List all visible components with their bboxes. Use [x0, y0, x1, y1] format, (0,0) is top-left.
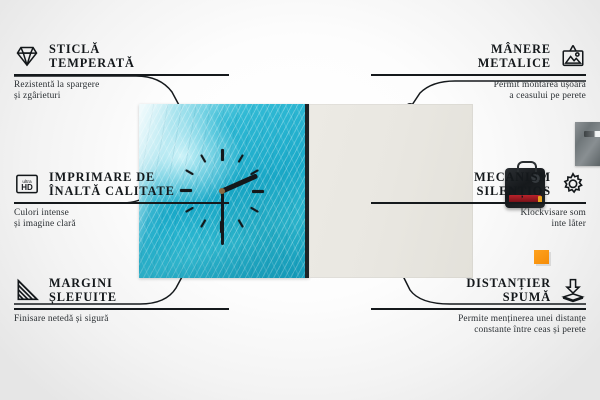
feature-header: DISTANȚIER SPUMĂ — [371, 276, 586, 304]
feature-title: MÂNERE METALICE — [478, 42, 551, 70]
feature-subtitle: Culori intense și imagine clară — [14, 208, 229, 232]
infographic-stage: STICLĂ TEMPERATĂ Rezistentă la spargere … — [0, 0, 600, 400]
feature-header: STICLĂ TEMPERATĂ — [14, 42, 229, 70]
feature-subtitle: Rezistentă la spargere și zgârieturi — [14, 80, 229, 104]
feature-title: DISTANȚIER SPUMĂ — [466, 276, 551, 304]
feature-foam-spacer: DISTANȚIER SPUMĂ Permite menținerea unei… — [371, 276, 586, 337]
feature-title: IMPRIMARE DE ÎNALTĂ CALITATE — [49, 170, 175, 198]
feature-silent-mechanism: MECANISM SILENȚIOS Klockvisare som inte … — [371, 170, 586, 231]
diamond-icon — [14, 43, 40, 69]
feature-metal-hangers: MÂNERE METALICE Permit montarea ușoară a… — [371, 42, 586, 103]
feature-subtitle: Klockvisare som inte låter — [371, 208, 586, 232]
feature-divider — [14, 202, 229, 204]
feature-divider — [14, 308, 229, 310]
foam-spacer-pad — [534, 250, 549, 264]
feature-divider — [371, 202, 586, 204]
feature-title: STICLĂ TEMPERATĂ — [49, 42, 135, 70]
metal-hanger-plate — [575, 122, 600, 166]
feature-header: MECANISM SILENȚIOS — [371, 170, 586, 198]
feature-header: ultra HD IMPRIMARE DE ÎNALTĂ CALITATE — [14, 170, 229, 198]
ultra-hd-icon: ultra HD — [14, 171, 40, 197]
gear-icon — [560, 171, 586, 197]
feature-subtitle: Permit montarea ușoară a ceasului pe per… — [371, 80, 586, 104]
feature-tempered-glass: STICLĂ TEMPERATĂ Rezistentă la spargere … — [14, 42, 229, 103]
feature-subtitle: Permite menținerea unei distanțe constan… — [371, 314, 586, 338]
feature-header: MARGINI ȘLEFUITE — [14, 276, 229, 304]
foam-spacer-icon — [560, 277, 586, 303]
svg-text:HD: HD — [21, 183, 33, 192]
feature-title: MARGINI ȘLEFUITE — [49, 276, 117, 304]
feature-title: MECANISM SILENȚIOS — [474, 170, 551, 198]
beveled-edge-icon — [14, 277, 40, 303]
feature-divider — [371, 308, 586, 310]
feature-print-quality: ultra HD IMPRIMARE DE ÎNALTĂ CALITATE Cu… — [14, 170, 229, 231]
picture-frame-icon — [560, 43, 586, 69]
hanger-slot — [584, 131, 600, 137]
feature-divider — [14, 74, 229, 76]
feature-polished-edges: MARGINI ȘLEFUITE Finisare netedă și sigu… — [14, 276, 229, 325]
feature-header: MÂNERE METALICE — [371, 42, 586, 70]
feature-divider — [371, 74, 586, 76]
feature-subtitle: Finisare netedă și sigură — [14, 314, 229, 326]
